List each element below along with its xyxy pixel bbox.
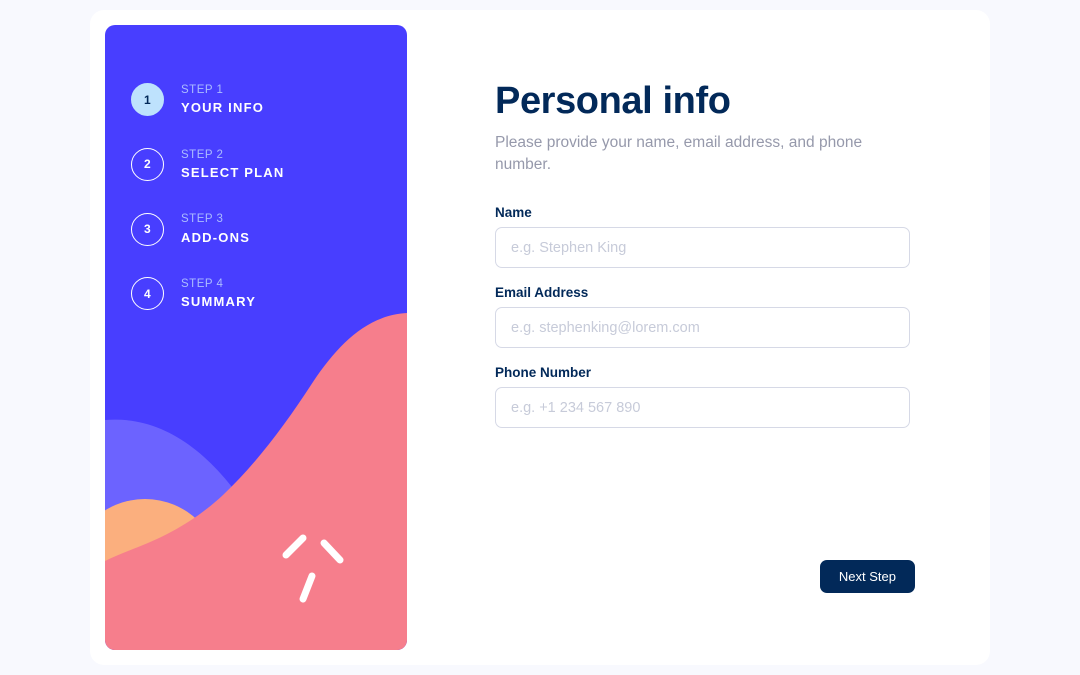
step-1-title: YOUR INFO: [181, 100, 264, 116]
name-input[interactable]: [495, 227, 910, 268]
step-1-label: STEP 1: [181, 83, 264, 97]
dash-icon-1: [286, 538, 303, 555]
step-1-number-circle: 1: [131, 83, 164, 116]
name-label: Name: [495, 205, 915, 220]
email-input[interactable]: [495, 307, 910, 348]
step-list: 1 STEP 1 YOUR INFO 2 STEP 2 SELECT PLAN …: [105, 25, 407, 311]
phone-input[interactable]: [495, 387, 910, 428]
step-2-title: SELECT PLAN: [181, 165, 284, 181]
step-3-title: ADD-ONS: [181, 230, 250, 246]
step-2-text: STEP 2 SELECT PLAN: [181, 148, 284, 182]
step-3-text: STEP 3 ADD-ONS: [181, 212, 250, 246]
sidebar-step-4[interactable]: 4 STEP 4 SUMMARY: [131, 277, 407, 311]
wave-shape: [105, 420, 407, 650]
field-email: Email Address: [495, 285, 915, 348]
next-step-button[interactable]: Next Step: [820, 560, 915, 593]
step-sidebar: 1 STEP 1 YOUR INFO 2 STEP 2 SELECT PLAN …: [105, 25, 407, 650]
pink-blob-shape: [105, 313, 407, 650]
white-dashes-group: [286, 538, 340, 599]
field-name: Name: [495, 205, 915, 268]
form-main-panel: Personal info Please provide your name, …: [407, 25, 975, 650]
phone-label: Phone Number: [495, 365, 915, 380]
email-label: Email Address: [495, 285, 915, 300]
sidebar-step-1[interactable]: 1 STEP 1 YOUR INFO: [131, 83, 407, 117]
page-root: 1 STEP 1 YOUR INFO 2 STEP 2 SELECT PLAN …: [0, 0, 1080, 675]
page-subtitle: Please provide your name, email address,…: [495, 132, 915, 175]
step-2-number-circle: 2: [131, 148, 164, 181]
dash-icon-2: [324, 543, 340, 560]
dash-icon-3: [303, 576, 312, 599]
step-4-number-circle: 4: [131, 277, 164, 310]
step-4-text: STEP 4 SUMMARY: [181, 277, 256, 311]
sidebar-step-3[interactable]: 3 STEP 3 ADD-ONS: [131, 212, 407, 246]
step-3-label: STEP 3: [181, 212, 250, 226]
step-2-label: STEP 2: [181, 148, 284, 162]
form-card: 1 STEP 1 YOUR INFO 2 STEP 2 SELECT PLAN …: [90, 10, 990, 665]
step-4-title: SUMMARY: [181, 294, 256, 310]
step-1-text: STEP 1 YOUR INFO: [181, 83, 264, 117]
field-phone: Phone Number: [495, 365, 915, 428]
step-3-number-circle: 3: [131, 213, 164, 246]
form-footer: Next Step: [820, 560, 915, 593]
orange-circle-shape: [105, 499, 221, 650]
sidebar-step-2[interactable]: 2 STEP 2 SELECT PLAN: [131, 148, 407, 182]
page-title: Personal info: [495, 82, 915, 120]
step-4-label: STEP 4: [181, 277, 256, 291]
